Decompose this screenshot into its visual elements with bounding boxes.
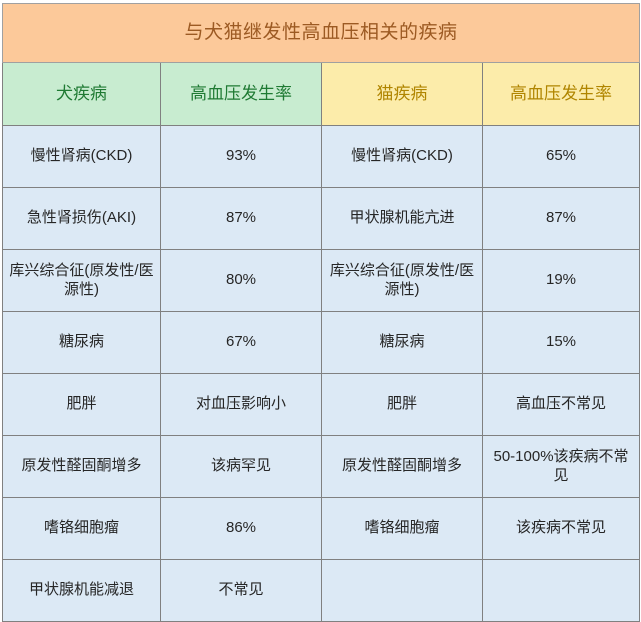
page-title: 与犬猫继发性高血压相关的疾病 [3,4,640,63]
cell-cat-disease: 库兴综合征(原发性/医源性) [322,250,483,312]
cell-dog-disease: 库兴综合征(原发性/医源性) [3,250,161,312]
table-row: 甲状腺机能减退 不常见 [3,560,640,622]
column-header-cat-disease: 猫疾病 [322,63,483,126]
column-header-dog-disease: 犬疾病 [3,63,161,126]
table-row: 库兴综合征(原发性/医源性) 80% 库兴综合征(原发性/医源性) 19% [3,250,640,312]
table-row: 原发性醛固酮增多 该病罕见 原发性醛固酮增多 50-100%该疾病不常见 [3,436,640,498]
cell-cat-disease: 甲状腺机能亢进 [322,188,483,250]
cell-dog-disease: 肥胖 [3,374,161,436]
cell-cat-rate [483,560,640,622]
cell-dog-rate: 67% [161,312,322,374]
cell-dog-rate: 80% [161,250,322,312]
secondary-hypertension-disease-table: 与犬猫继发性高血压相关的疾病 犬疾病 高血压发生率 猫疾病 高血压发生率 慢性肾… [2,3,640,622]
cell-dog-disease: 急性肾损伤(AKI) [3,188,161,250]
table-container: 与犬猫继发性高血压相关的疾病 犬疾病 高血压发生率 猫疾病 高血压发生率 慢性肾… [0,0,641,580]
cell-cat-disease [322,560,483,622]
column-header-dog-rate: 高血压发生率 [161,63,322,126]
cell-dog-rate: 93% [161,126,322,188]
table-header-row: 犬疾病 高血压发生率 猫疾病 高血压发生率 [3,63,640,126]
cell-dog-disease: 糖尿病 [3,312,161,374]
cell-cat-rate: 15% [483,312,640,374]
cell-dog-rate: 87% [161,188,322,250]
table-row: 急性肾损伤(AKI) 87% 甲状腺机能亢进 87% [3,188,640,250]
cell-dog-rate: 该病罕见 [161,436,322,498]
table-row: 肥胖 对血压影响小 肥胖 高血压不常见 [3,374,640,436]
cell-cat-rate: 该疾病不常见 [483,498,640,560]
table-row: 慢性肾病(CKD) 93% 慢性肾病(CKD) 65% [3,126,640,188]
cell-dog-rate: 对血压影响小 [161,374,322,436]
cell-dog-disease: 原发性醛固酮增多 [3,436,161,498]
cell-cat-disease: 糖尿病 [322,312,483,374]
cell-cat-rate: 87% [483,188,640,250]
cell-cat-disease: 肥胖 [322,374,483,436]
cell-dog-disease: 甲状腺机能减退 [3,560,161,622]
cell-cat-disease: 慢性肾病(CKD) [322,126,483,188]
cell-cat-rate: 65% [483,126,640,188]
table-title-row: 与犬猫继发性高血压相关的疾病 [3,4,640,63]
cell-dog-rate: 不常见 [161,560,322,622]
cell-dog-disease: 慢性肾病(CKD) [3,126,161,188]
cell-dog-disease: 嗜铬细胞瘤 [3,498,161,560]
column-header-cat-rate: 高血压发生率 [483,63,640,126]
table-row: 糖尿病 67% 糖尿病 15% [3,312,640,374]
cell-cat-rate: 19% [483,250,640,312]
cell-cat-rate: 50-100%该疾病不常见 [483,436,640,498]
cell-cat-disease: 嗜铬细胞瘤 [322,498,483,560]
table-row: 嗜铬细胞瘤 86% 嗜铬细胞瘤 该疾病不常见 [3,498,640,560]
cell-dog-rate: 86% [161,498,322,560]
cell-cat-disease: 原发性醛固酮增多 [322,436,483,498]
cell-cat-rate: 高血压不常见 [483,374,640,436]
